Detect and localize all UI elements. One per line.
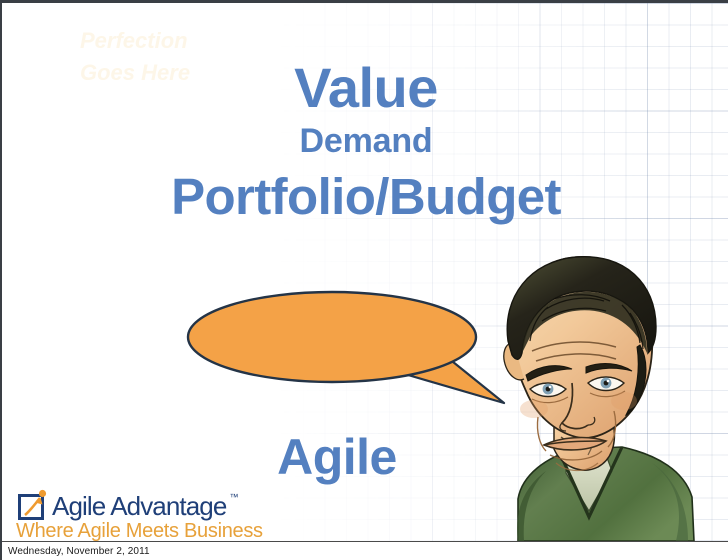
speech-bubble-body [188, 292, 476, 382]
speech-bubble-line-1: Perfection [80, 25, 295, 57]
speech-bubble-text: Perfection Goes Here [80, 25, 295, 89]
brand-logo: Agile Advantage ™ Where Agile Meets Busi… [16, 489, 263, 543]
heading-demand: Demand [2, 120, 728, 163]
logo-trademark: ™ [229, 492, 238, 502]
logo-wordmark: Agile Advantage [52, 491, 226, 522]
slide-canvas: Value Demand Portfolio/Budget Agile [0, 0, 728, 560]
speech-bubble-line-2: Goes Here [80, 57, 295, 89]
footer-divider [2, 541, 728, 542]
headline-stack: Value Demand Portfolio/Budget [2, 59, 728, 224]
footer-date: Wednesday, November 2, 2011 [8, 546, 150, 557]
logo-row: Agile Advantage ™ [16, 489, 263, 521]
logo-tagline: Where Agile Meets Business [16, 520, 263, 543]
speech-bubble [180, 285, 512, 407]
heading-value: Value [2, 59, 728, 116]
heading-portfolio-budget: Portfolio/Budget [2, 169, 728, 224]
agile-advantage-logo-mark-icon [16, 489, 50, 521]
